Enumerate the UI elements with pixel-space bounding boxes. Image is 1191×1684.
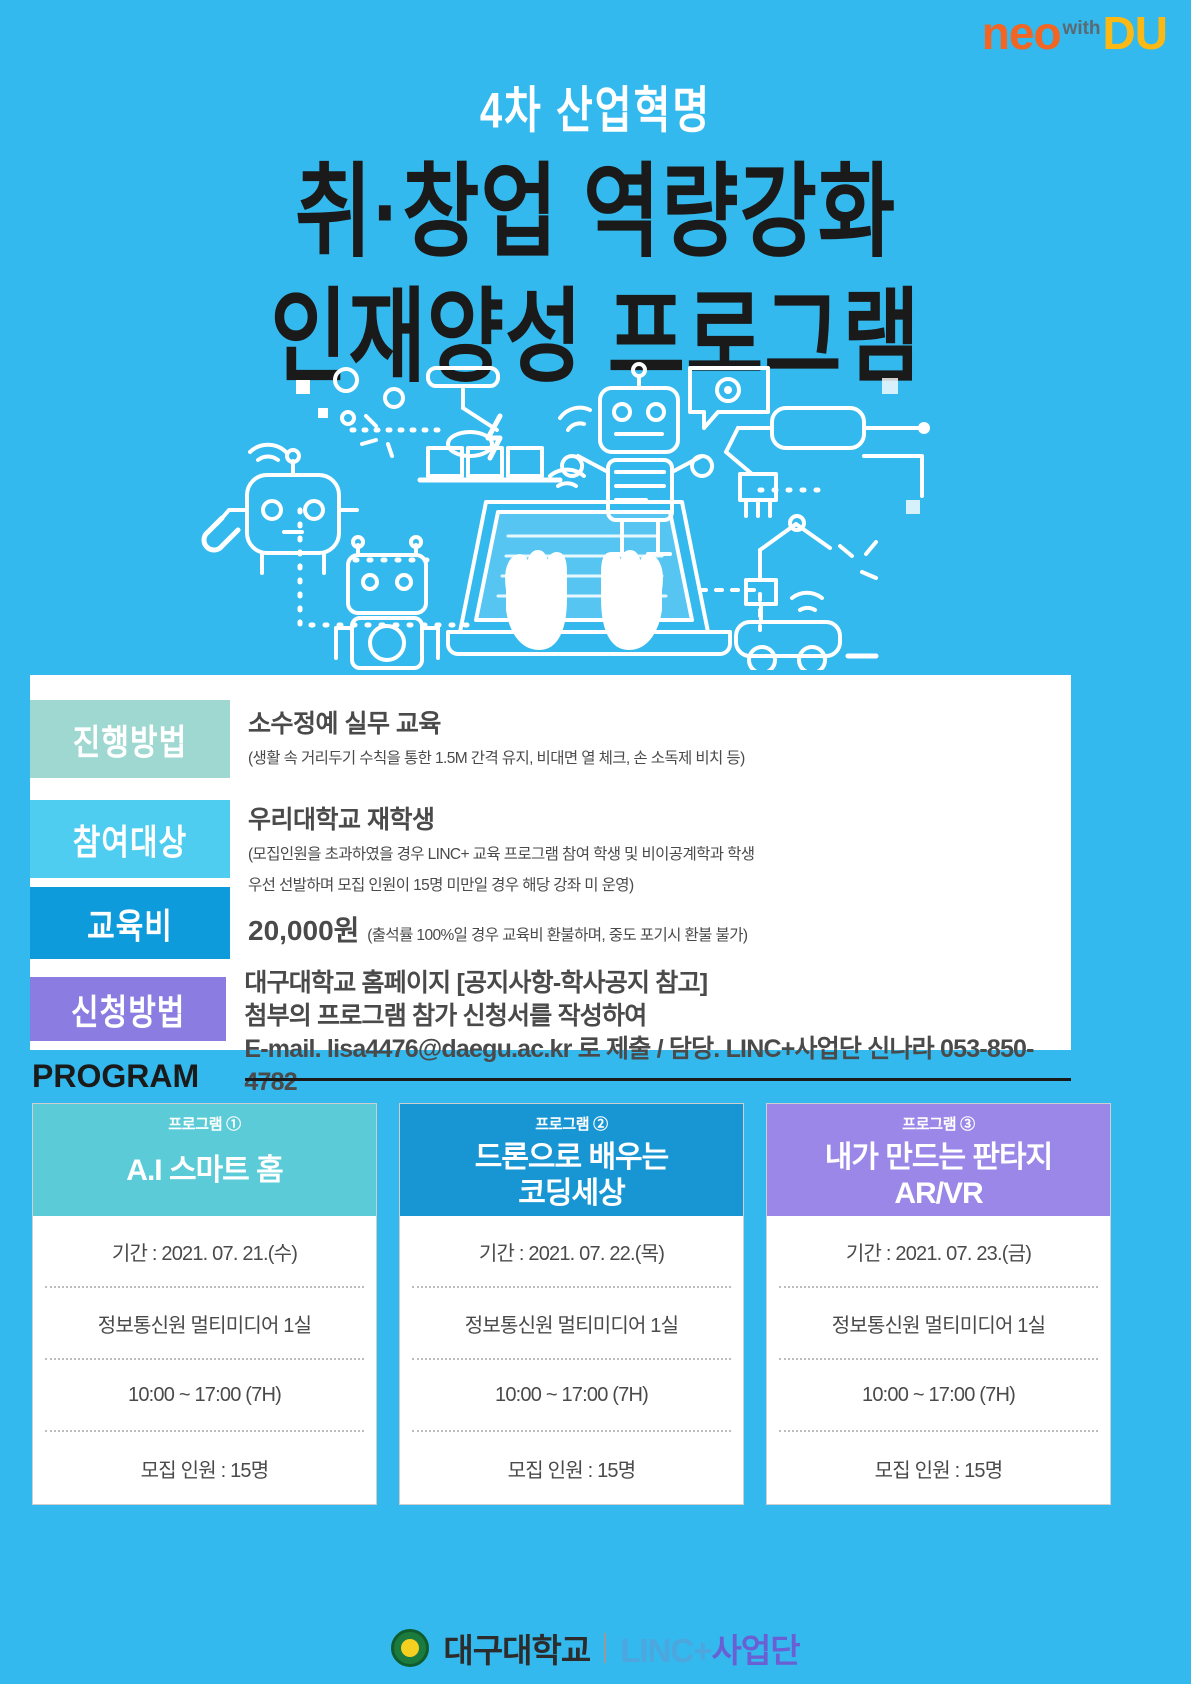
program-card-number: 프로그램 ③ — [767, 1113, 1110, 1134]
program-card-period: 기간 : 2021. 07. 21.(수) — [45, 1216, 364, 1288]
program-card-title: 내가 만드는 판타지 — [767, 1141, 1110, 1175]
info-body-target: 우리대학교 재학생 (모집인원을 초과하였을 경우 LINC+ 교육 프로그램 … — [230, 800, 754, 878]
brand-logo: neo with DU — [982, 10, 1167, 56]
info-row-method: 진행방법 소수정예 실무 교육 (생활 속 거리두기 수칙을 통한 1.5M 간… — [30, 700, 745, 778]
info-body-fee: 20,000원 (출석률 100%일 경우 교육비 환불하며, 중도 포기시 환… — [230, 887, 747, 959]
program-card-place: 정보통신원 멀티미디어 1실 — [779, 1288, 1098, 1360]
logo-du-text: DU — [1103, 10, 1167, 56]
info-row-apply: 신청방법 대구대학교 홈페이지 [공지사항-학사공지 참고] 첨부의 프로그램 … — [30, 977, 1071, 1041]
logo-with-text: with — [1063, 18, 1101, 40]
info-row-target: 참여대상 우리대학교 재학생 (모집인원을 초과하였을 경우 LINC+ 교육 … — [30, 800, 754, 878]
program-card[interactable]: 프로그램 ① A.I 스마트 홈 기간 : 2021. 07. 21.(수) 정… — [32, 1103, 377, 1505]
info-label-target: 참여대상 — [30, 800, 230, 878]
program-card-place: 정보통신원 멀티미디어 1실 — [412, 1288, 731, 1360]
info-label-apply: 신청방법 — [30, 977, 226, 1041]
program-card[interactable]: 프로그램 ③ 내가 만드는 판타지 AR/VR 기간 : 2021. 07. 2… — [766, 1103, 1111, 1505]
poster-root: { "brand": { "neo": "neo", "with": "with… — [0, 0, 1191, 1684]
program-card-body: 기간 : 2021. 07. 22.(목) 정보통신원 멀티미디어 1실 10:… — [400, 1216, 743, 1504]
program-card-body: 기간 : 2021. 07. 21.(수) 정보통신원 멀티미디어 1실 10:… — [33, 1216, 376, 1504]
program-card-time: 10:00 ~ 17:00 (7H) — [412, 1360, 731, 1432]
program-section-title: PROGRAM — [32, 1058, 199, 1095]
info-method-sub: (생활 속 거리두기 수칙을 통한 1.5M 간격 유지, 비대면 열 체크, … — [248, 746, 745, 768]
program-card[interactable]: 프로그램 ② 드론으로 배우는 코딩세상 기간 : 2021. 07. 22.(… — [399, 1103, 744, 1505]
program-card-title2: 코딩세상 — [400, 1177, 743, 1211]
program-card-capacity: 모집 인원 : 15명 — [412, 1432, 731, 1504]
program-card-time: 10:00 ~ 17:00 (7H) — [45, 1360, 364, 1432]
info-body-method: 소수정예 실무 교육 (생활 속 거리두기 수칙을 통한 1.5M 간격 유지,… — [230, 700, 745, 778]
program-card-period: 기간 : 2021. 07. 23.(금) — [779, 1216, 1098, 1288]
logo-neo-text: neo — [982, 10, 1061, 56]
footer-divider — [604, 1633, 606, 1663]
info-fee-amount: 20,000원 (출석률 100%일 경우 교육비 환불하며, 중도 포기시 환… — [248, 909, 747, 949]
program-card-header: 프로그램 ① A.I 스마트 홈 — [33, 1104, 376, 1216]
info-label-fee-text: 교육비 — [87, 897, 173, 949]
info-label-method: 진행방법 — [30, 700, 230, 778]
linc-suffix: 사업단 — [711, 1632, 799, 1669]
program-card-capacity: 모집 인원 : 15명 — [45, 1432, 364, 1504]
program-card-place: 정보통신원 멀티미디어 1실 — [45, 1288, 364, 1360]
daegu-university-emblem-icon — [391, 1629, 429, 1667]
program-divider — [245, 1078, 1071, 1081]
info-apply-line2: 첨부의 프로그램 참가 신청서를 작성하여 — [244, 1000, 1071, 1033]
program-card-time: 10:00 ~ 17:00 (7H) — [779, 1360, 1098, 1432]
program-card-number: 프로그램 ① — [33, 1113, 376, 1134]
program-card-period: 기간 : 2021. 07. 22.(목) — [412, 1216, 731, 1288]
info-target-sub1: (모집인원을 초과하였을 경우 LINC+ 교육 프로그램 참여 학생 및 비이… — [248, 842, 754, 864]
tech-illustration — [0, 360, 1191, 670]
info-fee-value: 20,000원 — [248, 915, 359, 946]
info-row-fee: 교육비 20,000원 (출석률 100%일 경우 교육비 환불하며, 중도 포… — [30, 887, 747, 959]
program-card-title: 드론으로 배우는 — [400, 1141, 743, 1175]
info-body-apply: 대구대학교 홈페이지 [공지사항-학사공지 참고] 첨부의 프로그램 참가 신청… — [226, 967, 1071, 1041]
linc-prefix: LINC+ — [620, 1632, 711, 1669]
info-fee-note: (출석률 100%일 경우 교육비 환불하며, 중도 포기시 환불 불가) — [367, 927, 747, 944]
program-card-body: 기간 : 2021. 07. 23.(금) 정보통신원 멀티미디어 1실 10:… — [767, 1216, 1110, 1504]
program-card-title: A.I 스마트 홈 — [33, 1154, 376, 1188]
info-label-fee: 교육비 — [30, 887, 230, 959]
info-method-head: 소수정예 실무 교육 — [248, 704, 745, 740]
info-label-target-text: 참여대상 — [73, 813, 187, 865]
program-card-title2: AR/VR — [767, 1177, 1110, 1211]
program-card-list: 프로그램 ① A.I 스마트 홈 기간 : 2021. 07. 21.(수) 정… — [32, 1103, 1159, 1505]
info-apply-line1: 대구대학교 홈페이지 [공지사항-학사공지 참고] — [244, 967, 1071, 1000]
program-card-header: 프로그램 ③ 내가 만드는 판타지 AR/VR — [767, 1104, 1110, 1216]
program-card-number: 프로그램 ② — [400, 1113, 743, 1134]
info-label-method-text: 진행방법 — [73, 713, 187, 765]
linc-plus-logo: LINC+사업단 — [620, 1624, 799, 1672]
daegu-university-name: 대구대학교 — [443, 1624, 590, 1672]
info-label-apply-text: 신청방법 — [71, 983, 185, 1035]
program-card-capacity: 모집 인원 : 15명 — [779, 1432, 1098, 1504]
footer-logos: 대구대학교 LINC+사업단 — [0, 1624, 1191, 1672]
info-target-head: 우리대학교 재학생 — [248, 800, 754, 836]
info-apply-line3: E-mail. lisa4476@daegu.ac.kr 로 제출 / 담당. … — [244, 1033, 1071, 1099]
program-card-header: 프로그램 ② 드론으로 배우는 코딩세상 — [400, 1104, 743, 1216]
info-panel: 진행방법 소수정예 실무 교육 (생활 속 거리두기 수칙을 통한 1.5M 간… — [30, 675, 1071, 1050]
